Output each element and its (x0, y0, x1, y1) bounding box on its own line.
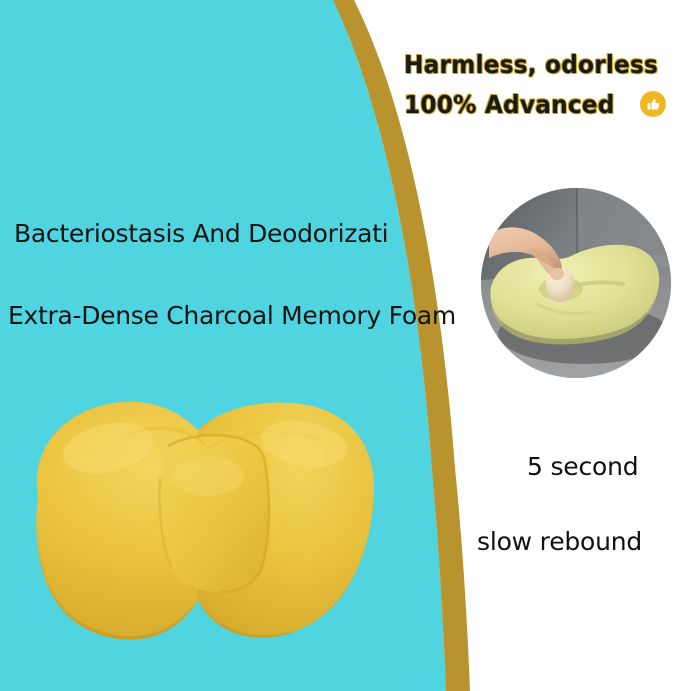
callout-slow-rebound: slow rebound (477, 527, 642, 556)
hand-pressing-egg-into-foam-photo (481, 188, 671, 378)
headline-row-2: 100% Advanced (404, 84, 679, 124)
headline-line-1: Harmless, odorless (404, 50, 658, 79)
headline-line-2: 100% Advanced (404, 90, 615, 119)
feature-text-charcoal-foam: Extra-Dense Charcoal Memory Foam (8, 301, 456, 330)
headline-block: Harmless, odorless 100% Advanced (404, 44, 679, 124)
feature-text-bacteriostasis: Bacteriostasis And Deodorizati (14, 219, 388, 248)
thumbs-up-icon (640, 91, 666, 117)
product-marketing-image: Harmless, odorless 100% Advanced Bacteri… (0, 0, 679, 691)
yellow-memory-foam-neck-pillow (12, 378, 392, 658)
headline-row-1: Harmless, odorless (404, 44, 679, 84)
callout-5-second: 5 second (527, 452, 638, 481)
